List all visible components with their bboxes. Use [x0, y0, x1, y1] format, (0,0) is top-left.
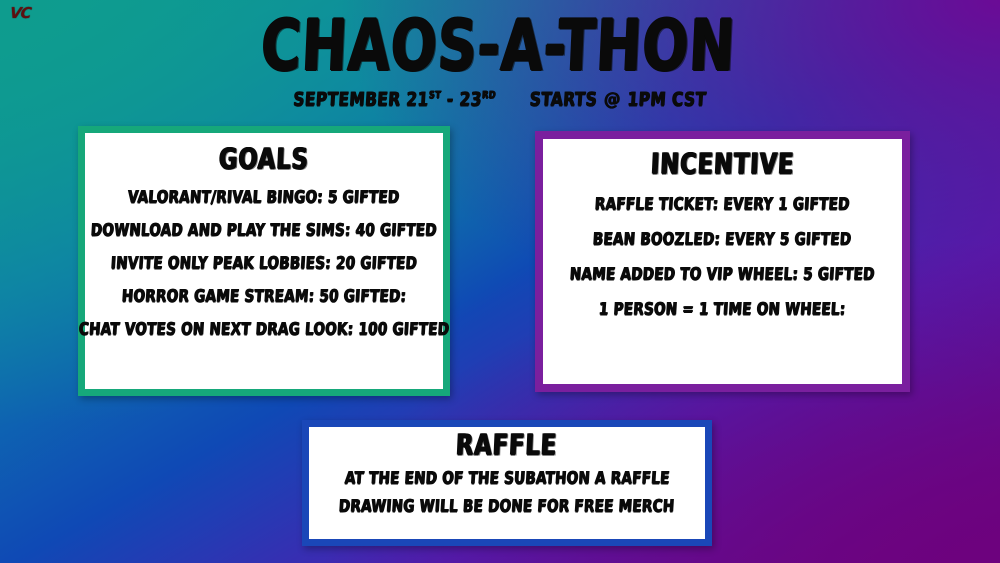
slide-canvas: VC CHAOS-A-THON SEPTEMBER 21ST - 23RDSTA…	[0, 0, 1000, 563]
raffle-item: AT THE END OF THE SUBATHON A RAFFLE	[344, 468, 670, 489]
raffle-item: DRAWING WILL BE DONE FOR FREE MERCH	[339, 496, 676, 517]
event-date: SEPTEMBER 21ST - 23RD	[293, 89, 497, 111]
goals-item: VALORANT/RIVAL BINGO: 5 GIFTED	[128, 187, 401, 208]
page-title: CHAOS-A-THON	[0, 11, 1000, 82]
incentive-item: 1 PERSON = 1 TIME ON WHEEL:	[599, 299, 847, 320]
incentive-item: BEAN BOOZLED: EVERY 5 GIFTED	[593, 229, 853, 250]
incentive-panel-inner: INCENTIVE RAFFLE TICKET: EVERY 1 GIFTED …	[543, 139, 902, 384]
incentive-panel: INCENTIVE RAFFLE TICKET: EVERY 1 GIFTED …	[535, 131, 910, 392]
raffle-panel-inner: RAFFLE AT THE END OF THE SUBATHON A RAFF…	[309, 427, 705, 539]
incentive-item: RAFFLE TICKET: EVERY 1 GIFTED	[594, 194, 850, 215]
raffle-panel: RAFFLE AT THE END OF THE SUBATHON A RAFF…	[302, 420, 712, 546]
goals-item: DOWNLOAD AND PLAY THE SIMS: 40 GIFTED	[90, 220, 437, 241]
goals-panel: GOALS VALORANT/RIVAL BINGO: 5 GIFTED DOW…	[78, 126, 450, 396]
goals-item: CHAT VOTES ON NEXT DRAG LOOK: 100 GIFTED	[78, 319, 450, 340]
event-schedule-subtitle: SEPTEMBER 21ST - 23RDSTARTS @ 1PM CST	[0, 88, 1000, 112]
goals-panel-inner: GOALS VALORANT/RIVAL BINGO: 5 GIFTED DOW…	[85, 133, 443, 389]
incentive-panel-title: INCENTIVE	[650, 147, 795, 181]
at-symbol-icon: @	[602, 89, 622, 110]
event-start-time: STARTS @ 1PM CST	[529, 89, 707, 111]
raffle-panel-title: RAFFLE	[456, 428, 559, 462]
goals-item: INVITE ONLY PEAK LOBBIES: 20 GIFTED	[110, 253, 417, 274]
goals-panel-title: GOALS	[218, 142, 309, 176]
incentive-item: NAME ADDED TO VIP WHEEL: 5 GIFTED	[569, 264, 875, 285]
goals-item: HORROR GAME STREAM: 50 GIFTED:	[121, 286, 407, 307]
